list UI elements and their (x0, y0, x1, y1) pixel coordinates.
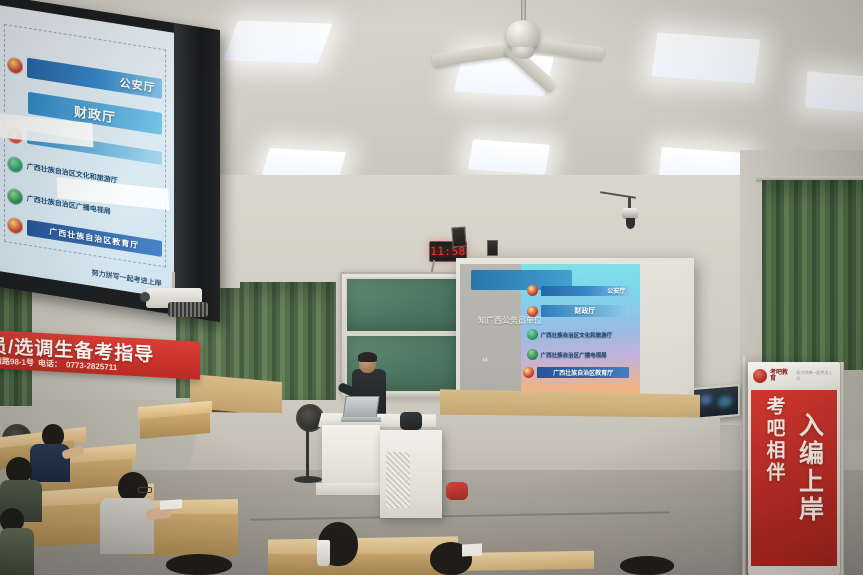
lecture-hall-photo: 公安厅 财政厅 广西壮族自治区文化和旅游厅 广西壮族自治区广播电视局 (0, 0, 863, 575)
banner-stand-left (742, 356, 746, 575)
emblem-icon (527, 285, 538, 296)
banner-phone: 0773-2825711 (66, 360, 117, 372)
banner-stand-right (840, 362, 844, 575)
display-bezel-right (174, 23, 220, 322)
wall-speaker (487, 240, 498, 256)
display-content: 公安厅 财政厅 广西壮族自治区文化和旅游厅 广西壮族自治区广播电视局 (0, 5, 176, 300)
emblem-icon (7, 155, 23, 174)
banner-address: 南路98-1号 (0, 355, 34, 368)
pedestal-fan-base (294, 476, 322, 483)
quote-mark-icon: “ (482, 358, 489, 368)
projector-cable-coil (168, 302, 208, 317)
slide-row-label: 公安厅 (607, 286, 625, 295)
student-torso (100, 498, 154, 554)
ceiling-fan-motor (506, 20, 540, 50)
slide-row-label: 广西壮族自治区广播电视局 (541, 351, 607, 359)
emblem-icon (523, 367, 534, 378)
podium-laptop-base (341, 417, 381, 422)
slide-row-label: 广西壮族自治区文化和旅游厅 (541, 331, 613, 339)
ceiling-fan-rod (521, 0, 526, 22)
banner-header-note: 努力拼搏一起考进上岸 (796, 370, 835, 382)
front-row-head (620, 556, 674, 575)
slide-bar: 广西壮族自治区教育厅 (537, 367, 629, 378)
banner-body: 考吧相伴 入编上岸 (751, 390, 838, 567)
front-row-head (166, 554, 232, 575)
ceiling-light (805, 71, 863, 113)
emblem-icon (7, 216, 23, 235)
brand-logo-icon (753, 369, 767, 383)
student-glasses-icon (138, 487, 152, 493)
emblem-icon (7, 187, 23, 206)
teaching-podium-body (322, 425, 380, 487)
clock-time: 11:58 (430, 246, 466, 257)
pedestal-fan-pole (306, 426, 309, 480)
dark-backpack (400, 412, 422, 430)
notebook-sheet (462, 543, 482, 556)
slide-row: 广西壮族自治区广播电视局 (527, 349, 630, 360)
slide-row: 广西壮族自治区教育厅 (523, 367, 629, 378)
window-curtain-right (762, 180, 863, 370)
student-torso (0, 528, 34, 575)
camera-lens-icon (626, 218, 635, 229)
ceiling-light (468, 139, 550, 174)
slide-row-label: 财政厅 (574, 306, 595, 316)
banner-phone-label: 电话： (38, 358, 62, 370)
slide-row: 财政厅 (527, 305, 630, 317)
slide-row-label: 广西壮族自治区教育厅 (553, 368, 613, 377)
slide-bar: 财政厅 (541, 305, 630, 317)
open-book (160, 499, 182, 510)
slide-bar: 公安厅 (541, 286, 630, 296)
emblem-icon (527, 349, 538, 360)
rollup-standing-banner: 考吧教育 努力拼搏一起考进上岸 考吧相伴 入编上岸 (748, 362, 840, 575)
emblem-icon (527, 329, 538, 340)
lecturer-hair (358, 352, 377, 362)
ceiling-light (223, 20, 332, 63)
pedestal-fan-head (296, 404, 324, 432)
poster-label: 公安厅 (120, 74, 156, 96)
slide-row: 广西壮族自治区文化和旅游厅 (527, 329, 630, 340)
ceiling-light (651, 32, 760, 83)
teaching-podium-base (316, 483, 386, 495)
emblem-icon (7, 56, 23, 75)
brand-name: 考吧教育 (770, 370, 793, 382)
front-row-desk (268, 554, 456, 575)
red-backpack (446, 482, 468, 500)
paper-cup (317, 540, 330, 566)
banner-column-left: 考吧相伴 (761, 396, 788, 567)
display-footer: 努力拼写一起考进上岸 (92, 268, 162, 289)
projector-mount (172, 272, 175, 288)
emblem-icon (527, 306, 538, 317)
air-conditioner-grill (386, 452, 410, 508)
wall-speaker (451, 227, 466, 248)
ceiling-fan-cap (512, 47, 534, 59)
overhead-display-panel[interactable]: 公安厅 财政厅 广西壮族自治区文化和旅游厅 广西壮族自治区广播电视局 (0, 0, 220, 322)
banner-column-right: 入编上岸 (792, 412, 828, 567)
chalkboard-panel-upper (345, 277, 465, 333)
banner-header: 考吧教育 努力拼搏一起考进上岸 (748, 362, 840, 390)
projector-lens (140, 292, 150, 302)
slide-sidebar-text: 知广西公务员单位 (478, 316, 622, 327)
slide-row: 公安厅 (527, 285, 630, 296)
